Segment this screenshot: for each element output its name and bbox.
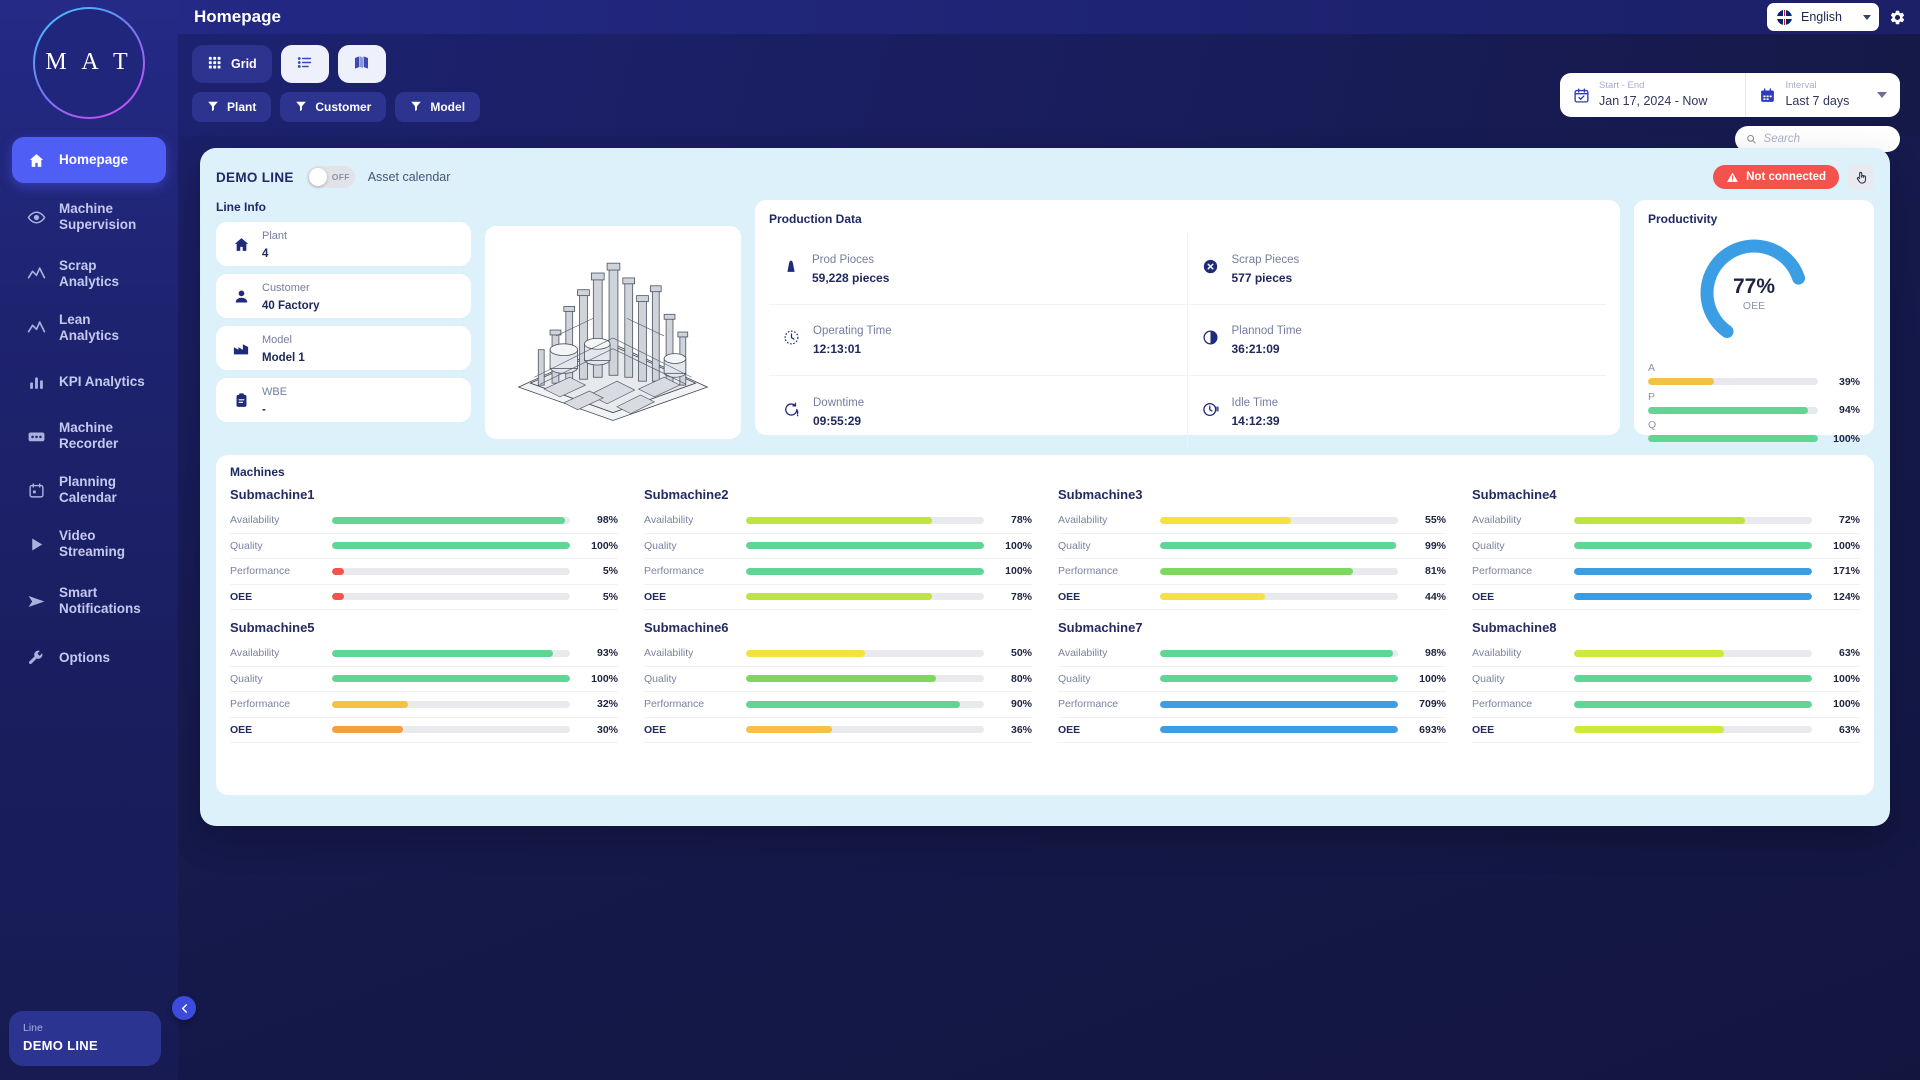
machine-metric-track [746, 542, 984, 549]
status-badge: Not connected [1713, 165, 1839, 189]
machine-metric-value: 98% [580, 514, 618, 526]
machine-metric-fill [1160, 568, 1353, 575]
factory-icon [232, 339, 250, 357]
machine-metric-value: 100% [1822, 540, 1860, 552]
machine-card[interactable]: Submachine8 Availability 63% Quality 100… [1472, 620, 1860, 743]
machine-metric-track [1574, 650, 1812, 657]
machine-metric-label: OEE [1058, 724, 1150, 736]
machine-metric-track [1160, 517, 1398, 524]
machine-metric-value: 98% [1408, 647, 1446, 659]
productivity-bar-q: Q 100% [1648, 419, 1860, 445]
machine-metric-label: OEE [644, 724, 736, 736]
line-info-item-wbe: WBE - [216, 378, 471, 422]
productivity-bar-track [1648, 435, 1818, 442]
machine-metric-row: OEE 693% [1058, 718, 1446, 744]
machine-metric-row: Quality 99% [1058, 534, 1446, 560]
production-data-title: Production Data [769, 212, 1606, 226]
machine-metric-fill [1160, 675, 1398, 682]
factory-icon [232, 339, 250, 357]
machine-metric-label: OEE [1472, 724, 1564, 736]
machine-metric-track [332, 593, 570, 600]
machine-metric-label: Performance [644, 698, 736, 710]
production-metric-idle-time: Idle Time 14:12:39 [1188, 376, 1607, 447]
x-circle-icon [1202, 258, 1219, 280]
machine-metric-track [1160, 675, 1398, 682]
view-tab-label: Grid [231, 57, 257, 71]
view-tabs: Grid [192, 45, 386, 83]
sidebar-collapse-button[interactable] [172, 996, 196, 1020]
machine-name: Submachine1 [230, 487, 618, 502]
machine-metric-value: 100% [580, 673, 618, 685]
machine-metric-fill [746, 675, 936, 682]
machine-metric-fill [1160, 650, 1393, 657]
sidebar-item-scrap-analytics[interactable]: Scrap Analytics [12, 251, 166, 297]
machine-metric-track [332, 568, 570, 575]
machine-metric-track [332, 726, 570, 733]
machine-metric-row: Quality 100% [230, 534, 618, 560]
machine-metric-row: Availability 93% [230, 641, 618, 667]
settings-button[interactable] [1889, 9, 1906, 26]
machine-metric-fill [746, 701, 960, 708]
play-icon [26, 536, 46, 553]
chevron-down-icon [1863, 15, 1871, 20]
machine-metric-value: 55% [1408, 514, 1446, 526]
filter-button-model[interactable]: Model [395, 92, 480, 122]
search-icon [1746, 133, 1757, 145]
chevron-left-icon [180, 1004, 189, 1013]
machine-metric-track [1574, 593, 1812, 600]
home-icon [232, 236, 250, 253]
calendar-icon [1759, 87, 1776, 104]
machine-metric-row: Quality 100% [1058, 667, 1446, 693]
machine-card[interactable]: Submachine2 Availability 78% Quality 100… [644, 487, 1032, 610]
production-metric-prod-pioces: Prod Pioces 59,228 pieces [769, 234, 1188, 305]
machine-card[interactable]: Submachine1 Availability 98% Quality 100… [230, 487, 618, 610]
machine-metric-track [746, 701, 984, 708]
line-info-item-plant: Plant 4 [216, 222, 471, 266]
line-info-value: 40 Factory [262, 300, 320, 312]
machines-panel: Machines Submachine1 Availability 98% Qu… [216, 455, 1874, 795]
machine-metric-fill [1574, 542, 1812, 549]
grid-icon [207, 55, 222, 73]
sidebar-nav: HomepageMachine SupervisionScrap Analyti… [0, 137, 178, 681]
machine-metric-track [1574, 542, 1812, 549]
machine-metric-label: OEE [230, 591, 322, 603]
sidebar-line-selector[interactable]: Line DEMO LINE [9, 1011, 161, 1066]
logo-circle: M A T [33, 7, 145, 119]
machine-metric-track [1160, 726, 1398, 733]
filter-icon [410, 100, 422, 115]
touch-button[interactable] [1848, 164, 1874, 190]
sidebar-item-machine-recorder[interactable]: Machine Recorder [12, 413, 166, 459]
machine-metric-label: Performance [644, 565, 736, 577]
interval-value: Last 7 days [1785, 93, 1849, 110]
production-metric-value: 36:21:09 [1232, 342, 1280, 356]
productivity-bar-track [1648, 407, 1818, 414]
production-metric-key: Scrap Pieces [1232, 254, 1300, 266]
machine-card[interactable]: Submachine7 Availability 98% Quality 100… [1058, 620, 1446, 743]
sidebar-item-label: Video Streaming [59, 528, 152, 559]
trend-icon [26, 265, 46, 284]
oee-gauge-value: 77% [1733, 275, 1775, 299]
machine-name: Submachine6 [644, 620, 1032, 635]
machine-metric-value: 100% [1408, 673, 1446, 685]
uk-flag-icon [1777, 10, 1792, 25]
production-metric-value: 59,228 pieces [812, 271, 889, 285]
x-circle-icon [1202, 258, 1219, 275]
oee-gauge-text: 77% OEE [1695, 234, 1813, 352]
machine-metric-value: 100% [1822, 673, 1860, 685]
machine-metric-row: Performance 5% [230, 559, 618, 585]
chevron-down-icon [1877, 92, 1887, 98]
search-input[interactable] [1764, 133, 1889, 145]
line-power-toggle[interactable]: OFF [307, 166, 355, 188]
machine-metric-value: 171% [1822, 565, 1860, 577]
machine-metric-label: Performance [1472, 565, 1564, 577]
line-info-item-customer: Customer 40 Factory [216, 274, 471, 318]
production-data-grid: Prod Pioces 59,228 pieces Scrap Pieces 5… [769, 234, 1606, 447]
machine-metric-track [746, 517, 984, 524]
touch-icon [1854, 170, 1869, 185]
machine-metric-value: 100% [994, 540, 1032, 552]
production-metric-value: 14:12:39 [1232, 414, 1280, 428]
machine-metric-label: Quality [644, 540, 736, 552]
language-select[interactable]: English [1767, 3, 1879, 31]
home-icon [26, 152, 46, 169]
map-icon [353, 54, 370, 74]
bar-chart-icon [28, 374, 45, 391]
production-metric-value: 12:13:01 [813, 342, 861, 356]
home-icon [233, 236, 250, 253]
machine-metric-track [746, 650, 984, 657]
clock-alert-icon [783, 401, 800, 423]
machine-metric-track [1160, 650, 1398, 657]
date-range-picker[interactable]: Start - End Jan 17, 2024 - Now Interval … [1560, 73, 1900, 117]
filter-bar: PlantCustomerModel [192, 92, 480, 122]
play-icon [28, 536, 45, 553]
sidebar-item-label: Homepage [59, 152, 128, 168]
productivity-bar-label: A [1648, 362, 1860, 376]
line-card-header-right: Not connected [1713, 164, 1874, 190]
machine-metric-value: 63% [1822, 647, 1860, 659]
machine-metric-label: Quality [1058, 673, 1150, 685]
home-icon [28, 152, 45, 169]
machines-title: Machines [230, 465, 1860, 479]
machine-metric-value: 5% [580, 565, 618, 577]
machine-metric-value: 30% [580, 724, 618, 736]
date-range-start-end[interactable]: Start - End Jan 17, 2024 - Now [1560, 73, 1746, 117]
machine-metric-row: Performance 32% [230, 692, 618, 718]
clock-alert-icon [783, 401, 800, 418]
filter-icon [410, 100, 422, 112]
piece-icon [783, 259, 799, 275]
sidebar-item-label: Options [59, 650, 110, 666]
machine-metric-row: Availability 72% [1472, 508, 1860, 534]
machine-metric-fill [1160, 517, 1291, 524]
sidebar-item-lean-analytics[interactable]: Lean Analytics [12, 305, 166, 351]
machine-metric-row: Performance 100% [644, 559, 1032, 585]
production-data-panel: Production Data Prod Pioces 59,228 piece… [755, 200, 1620, 435]
filter-button-label: Plant [227, 100, 256, 114]
machine-name: Submachine3 [1058, 487, 1446, 502]
industrial-plant-illustration [495, 238, 731, 428]
production-metric-downtime: Downtime 09:55:29 [769, 376, 1188, 447]
machine-card[interactable]: Submachine6 Availability 50% Quality 80%… [644, 620, 1032, 743]
view-tab-map[interactable] [338, 45, 386, 83]
machine-metric-value: 693% [1408, 724, 1446, 736]
logo-text: M A T [45, 49, 132, 76]
filter-button-label: Customer [315, 100, 371, 114]
sidebar-item-options[interactable]: Options [12, 635, 166, 681]
machine-metric-fill [1574, 726, 1724, 733]
sidebar-item-label: KPI Analytics [59, 374, 145, 390]
machine-metric-fill [1574, 593, 1812, 600]
machine-metric-track [332, 517, 570, 524]
list-icon [296, 54, 313, 74]
machine-metric-label: Quality [644, 673, 736, 685]
production-metric-operating-time: Operating Time 12:13:01 [769, 305, 1188, 376]
machine-metric-value: 124% [1822, 591, 1860, 603]
clock-dashed-icon [783, 329, 800, 351]
machine-metric-value: 100% [1822, 698, 1860, 710]
machine-metric-label: Performance [230, 565, 322, 577]
machine-metric-fill [1574, 650, 1724, 657]
person-icon [232, 288, 250, 305]
machine-card[interactable]: Submachine3 Availability 55% Quality 99%… [1058, 487, 1446, 610]
machine-name: Submachine8 [1472, 620, 1860, 635]
machine-metric-fill [746, 517, 932, 524]
top-bar: Homepage English [178, 0, 1920, 34]
productivity-bar-fill [1648, 407, 1808, 414]
oee-gauge-label: OEE [1743, 300, 1765, 312]
machine-metric-row: Performance 90% [644, 692, 1032, 718]
machine-metric-row: Quality 100% [644, 534, 1032, 560]
sidebar-item-planning-calendar[interactable]: Planning Calendar [12, 467, 166, 513]
machine-name: Submachine7 [1058, 620, 1446, 635]
machine-metric-track [1574, 517, 1812, 524]
start-end-value: Jan 17, 2024 - Now [1599, 93, 1707, 110]
recorder-icon [26, 427, 46, 446]
filter-icon [295, 100, 307, 112]
apq-bars: A 39% P 94% Q 100% [1648, 362, 1860, 445]
production-metric-value: 09:55:29 [813, 414, 861, 428]
machine-metric-label: OEE [230, 724, 322, 736]
machine-metric-value: 78% [994, 591, 1032, 603]
machine-metric-track [1160, 542, 1398, 549]
asset-calendar-link[interactable]: Asset calendar [368, 170, 451, 184]
machine-metric-label: Quality [1472, 673, 1564, 685]
plant-illustration [485, 226, 741, 439]
machine-metric-row: OEE 30% [230, 718, 618, 744]
machine-metric-row: OEE 44% [1058, 585, 1446, 611]
productivity-bar-track [1648, 378, 1818, 385]
machine-metric-value: 90% [994, 698, 1032, 710]
line-info-key: WBE [262, 386, 287, 398]
half-clock-icon [1202, 329, 1219, 346]
machine-metric-track [1160, 701, 1398, 708]
trend-icon [26, 319, 46, 338]
toggle-knob [309, 168, 327, 186]
machine-metric-value: 99% [1408, 540, 1446, 552]
piece-icon [783, 259, 799, 280]
machine-metric-fill [332, 542, 570, 549]
send-icon [27, 592, 46, 611]
sidebar-item-machine-supervision[interactable]: Machine Supervision [12, 191, 166, 243]
machine-card[interactable]: Submachine4 Availability 72% Quality 100… [1472, 487, 1860, 610]
line-info-key: Model [262, 334, 292, 346]
sidebar-item-smart-notifications[interactable]: Smart Notifications [12, 575, 166, 627]
sidebar-item-video-streaming[interactable]: Video Streaming [12, 521, 166, 567]
filter-button-customer[interactable]: Customer [280, 92, 386, 122]
language-label: English [1801, 10, 1842, 24]
machine-metric-fill [746, 726, 832, 733]
map-icon [353, 54, 370, 71]
machine-metric-track [1574, 675, 1812, 682]
half-clock-icon [1202, 329, 1219, 351]
machines-grid: Submachine1 Availability 98% Quality 100… [230, 487, 1860, 743]
machine-metric-label: Availability [230, 514, 322, 526]
production-metric-key: Operating Time [813, 325, 892, 337]
machine-metric-label: Quality [230, 540, 322, 552]
list-icon [296, 54, 313, 71]
machine-metric-row: OEE 5% [230, 585, 618, 611]
page-title: Homepage [194, 7, 281, 27]
machine-metric-track [332, 650, 570, 657]
sidebar-item-label: Machine Recorder [59, 420, 152, 451]
machine-metric-row: OEE 36% [644, 718, 1032, 744]
filter-icon [207, 100, 219, 112]
line-info-value: 4 [262, 248, 268, 260]
production-metric-key: Plannod Time [1232, 325, 1302, 337]
machine-metric-label: Performance [1472, 698, 1564, 710]
machine-metric-value: 78% [994, 514, 1032, 526]
calendar-icon [26, 482, 46, 499]
machine-metric-value: 80% [994, 673, 1032, 685]
sidebar-item-kpi-analytics[interactable]: KPI Analytics [12, 359, 166, 405]
send-icon [26, 592, 46, 611]
machine-metric-value: 32% [580, 698, 618, 710]
sidebar-item-label: Lean Analytics [59, 312, 152, 343]
machine-metric-track [746, 568, 984, 575]
machine-metric-fill [1160, 701, 1398, 708]
machine-metric-label: OEE [1058, 591, 1150, 603]
calendar-icon [28, 482, 45, 499]
machine-metric-row: Availability 63% [1472, 641, 1860, 667]
wrench-icon [27, 649, 45, 667]
machine-metric-fill [746, 593, 932, 600]
machine-metric-value: 93% [580, 647, 618, 659]
machine-metric-row: Availability 50% [644, 641, 1032, 667]
productivity-bar-label: Q [1648, 419, 1860, 433]
header-band: Grid PlantCustomerModel Start - End Jan … [178, 34, 1920, 136]
machine-metric-track [1574, 701, 1812, 708]
machine-metric-value: 81% [1408, 565, 1446, 577]
productivity-bar-value: 94% [1826, 404, 1860, 416]
machine-metric-row: Performance 81% [1058, 559, 1446, 585]
machine-metric-label: Availability [1472, 514, 1564, 526]
machine-metric-row: OEE 78% [644, 585, 1032, 611]
machine-metric-row: Availability 78% [644, 508, 1032, 534]
line-info-value: Model 1 [262, 352, 305, 364]
sidebar-item-label: Scrap Analytics [59, 258, 152, 289]
filter-button-plant[interactable]: Plant [192, 92, 271, 122]
machine-metric-fill [1574, 675, 1812, 682]
machine-metric-row: Quality 100% [1472, 667, 1860, 693]
clipboard-icon [233, 392, 250, 409]
machine-metric-label: Availability [644, 514, 736, 526]
productivity-bar-fill [1648, 435, 1818, 442]
machine-metric-label: Performance [1058, 565, 1150, 577]
productivity-bar-p: P 94% [1648, 391, 1860, 417]
productivity-panel: Productivity 77% OEE A 39% P [1634, 200, 1874, 435]
trend-icon [27, 319, 46, 338]
view-tab-list[interactable] [281, 45, 329, 83]
machine-metric-fill [746, 568, 984, 575]
machine-metric-row: Availability 98% [1058, 641, 1446, 667]
machine-metric-fill [1160, 593, 1265, 600]
machine-metric-label: Performance [230, 698, 322, 710]
machine-name: Submachine5 [230, 620, 618, 635]
sidebar-item-homepage[interactable]: Homepage [12, 137, 166, 183]
toggle-state-label: OFF [332, 172, 350, 182]
machine-metric-label: Availability [1472, 647, 1564, 659]
gear-icon [1889, 9, 1906, 26]
clock-pause-icon [1202, 401, 1219, 423]
machine-card[interactable]: Submachine5 Availability 93% Quality 100… [230, 620, 618, 743]
filter-icon [295, 100, 307, 115]
line-info-value: - [262, 404, 266, 416]
filter-button-label: Model [430, 100, 465, 114]
machine-metric-row: Performance 171% [1472, 559, 1860, 585]
line-info-panel: Line Info Plant 4 Customer 40 Factory Mo… [216, 200, 471, 443]
status-badge-label: Not connected [1746, 171, 1826, 183]
machine-metric-value: 44% [1408, 591, 1446, 603]
machine-metric-value: 100% [580, 540, 618, 552]
machine-metric-value: 100% [994, 565, 1032, 577]
clipboard-icon [232, 392, 250, 409]
productivity-bar-fill [1648, 378, 1714, 385]
machine-metric-fill [332, 701, 408, 708]
topbar-right-group: English [1767, 3, 1920, 31]
machine-name: Submachine4 [1472, 487, 1860, 502]
date-range-interval[interactable]: Interval Last 7 days [1746, 73, 1900, 117]
machine-metric-fill [1160, 726, 1398, 733]
view-tab-grid[interactable]: Grid [192, 45, 272, 83]
machine-metric-track [746, 675, 984, 682]
warning-icon [1726, 171, 1739, 184]
line-selector-value: DEMO LINE [23, 1038, 147, 1053]
machine-metric-label: OEE [1472, 591, 1564, 603]
machine-metric-label: Quality [1472, 540, 1564, 552]
production-metric-key: Idle Time [1232, 397, 1279, 409]
machine-metric-label: Availability [230, 647, 322, 659]
machine-metric-row: Availability 55% [1058, 508, 1446, 534]
line-info-key: Plant [262, 230, 287, 242]
grid-icon [207, 55, 222, 70]
productivity-bar-value: 39% [1826, 376, 1860, 388]
interval-label: Interval [1785, 80, 1849, 93]
machine-metric-row: OEE 124% [1472, 585, 1860, 611]
line-selector-label: Line [23, 1022, 147, 1034]
machine-metric-fill [1160, 542, 1396, 549]
machine-metric-fill [746, 650, 865, 657]
machine-metric-row: Availability 98% [230, 508, 618, 534]
production-metric-scrap-pieces: Scrap Pieces 577 pieces [1188, 234, 1607, 305]
app-logo[interactable]: M A T [0, 0, 178, 125]
eye-icon [26, 208, 46, 227]
machine-metric-label: OEE [644, 591, 736, 603]
machine-metric-fill [1574, 568, 1812, 575]
